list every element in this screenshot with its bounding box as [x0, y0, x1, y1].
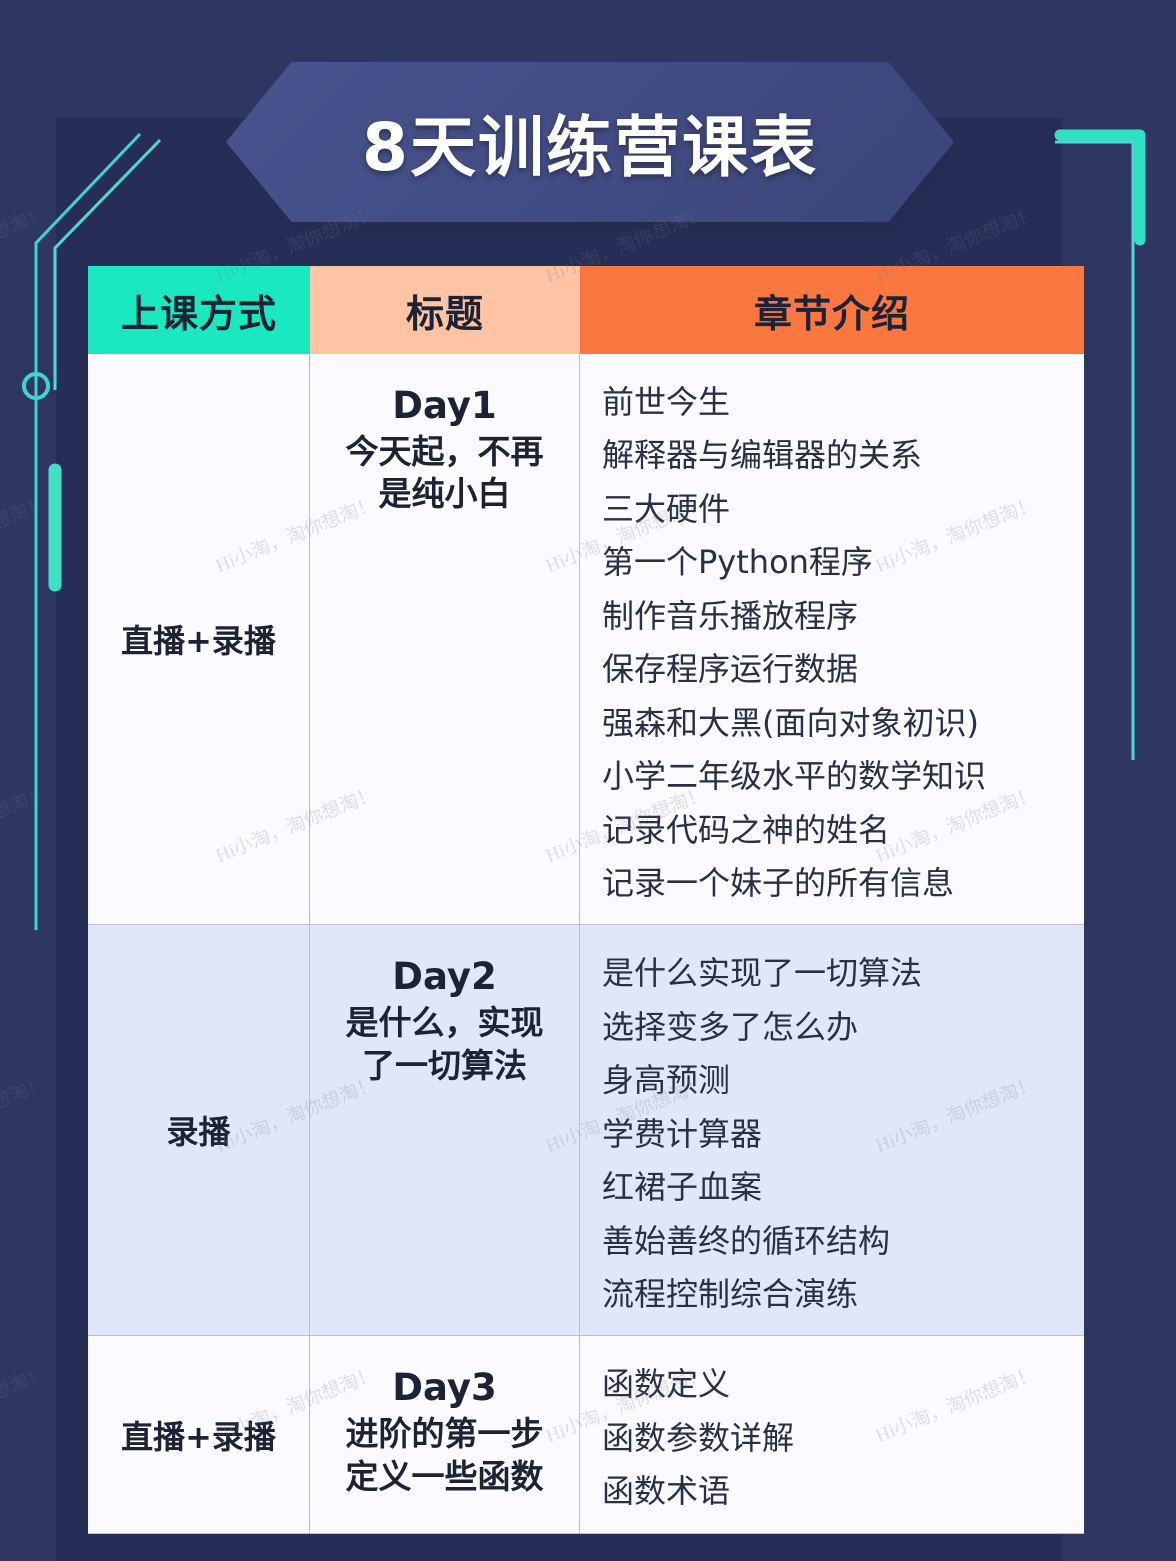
- table-row: 直播+录播 Day1 今天起，不再 是纯小白 前世今生 解释器与编辑器的关系 三…: [88, 354, 1084, 925]
- cell-description: 函数定义 函数参数详解 函数术语: [580, 1336, 1084, 1532]
- course-schedule-poster: 8天训练营课表 上课方式 标题 章节介绍 直播+录播 Day1 今天起，不再 是…: [0, 0, 1176, 1561]
- chapter-item: 是什么实现了一切算法: [602, 947, 1084, 1000]
- chapter-item: 身高预测: [602, 1054, 1084, 1107]
- title-banner: 8天训练营课表: [226, 62, 954, 228]
- cell-title: Day1 今天起，不再 是纯小白: [310, 354, 580, 924]
- table-header-row: 上课方式 标题 章节介绍: [88, 266, 1084, 354]
- mode-label: 直播+录播: [121, 1412, 276, 1458]
- chapter-item: 记录一个妹子的所有信息: [602, 857, 1084, 910]
- schedule-table: 上课方式 标题 章节介绍 直播+录播 Day1 今天起，不再 是纯小白 前世今生…: [88, 266, 1084, 1534]
- cell-title: Day2 是什么，实现 了一切算法: [310, 925, 580, 1335]
- chapter-item: 红裙子血案: [602, 1161, 1084, 1214]
- chapter-item: 三大硬件: [602, 483, 1084, 536]
- chapter-item: 选择变多了怎么办: [602, 1001, 1084, 1054]
- page-title: 8天训练营课表: [362, 94, 818, 190]
- chapter-item: 记录代码之神的姓名: [602, 804, 1084, 857]
- chapter-item: 保存程序运行数据: [602, 643, 1084, 696]
- day-subtitle-line: 今天起，不再: [346, 431, 544, 473]
- chapter-item: 学费计算器: [602, 1108, 1084, 1161]
- cell-description: 是什么实现了一切算法 选择变多了怎么办 身高预测 学费计算器 红裙子血案 善始善…: [580, 925, 1084, 1335]
- banner-hexagon: 8天训练营课表: [226, 62, 954, 222]
- chapter-item: 小学二年级水平的数学知识: [602, 750, 1084, 803]
- chapter-item: 函数术语: [602, 1465, 1084, 1518]
- column-header-title: 标题: [310, 266, 580, 354]
- chapter-item: 制作音乐播放程序: [602, 590, 1084, 643]
- mode-label: 录播: [166, 1107, 230, 1153]
- cell-mode: 直播+录播: [88, 1336, 310, 1532]
- cell-description: 前世今生 解释器与编辑器的关系 三大硬件 第一个Python程序 制作音乐播放程…: [580, 354, 1084, 924]
- table-row: 直播+录播 Day3 进阶的第一步 定义一些函数 函数定义 函数参数详解 函数术…: [88, 1336, 1084, 1533]
- day-subtitle-line: 了一切算法: [362, 1045, 527, 1087]
- chapter-item: 前世今生: [602, 376, 1084, 429]
- chapter-item: 函数定义: [602, 1358, 1084, 1411]
- mode-label: 直播+录播: [121, 616, 276, 662]
- chapter-item: 善始善终的循环结构: [602, 1215, 1084, 1268]
- day-subtitle-line: 是什么，实现: [346, 1002, 544, 1044]
- day-subtitle-line: 定义一些函数: [346, 1456, 544, 1498]
- day-subtitle-line: 是纯小白: [379, 473, 511, 515]
- chapter-item: 解释器与编辑器的关系: [602, 429, 1084, 482]
- chapter-item: 强森和大黑(面向对象初识): [602, 697, 1084, 750]
- table-row: 录播 Day2 是什么，实现 了一切算法 是什么实现了一切算法 选择变多了怎么办…: [88, 925, 1084, 1336]
- day-subtitle-line: 进阶的第一步: [346, 1413, 544, 1455]
- chapter-item: 函数参数详解: [602, 1412, 1084, 1465]
- day-label: Day3: [392, 1366, 496, 1409]
- cell-mode: 录播: [88, 925, 310, 1335]
- chapter-item: 第一个Python程序: [602, 536, 1084, 589]
- cell-title: Day3 进阶的第一步 定义一些函数: [310, 1336, 580, 1532]
- column-header-mode: 上课方式: [88, 266, 310, 354]
- column-header-description: 章节介绍: [580, 266, 1084, 354]
- cell-mode: 直播+录播: [88, 354, 310, 924]
- chapter-item: 流程控制综合演练: [602, 1268, 1084, 1321]
- day-label: Day1: [392, 384, 496, 427]
- day-label: Day2: [392, 955, 496, 998]
